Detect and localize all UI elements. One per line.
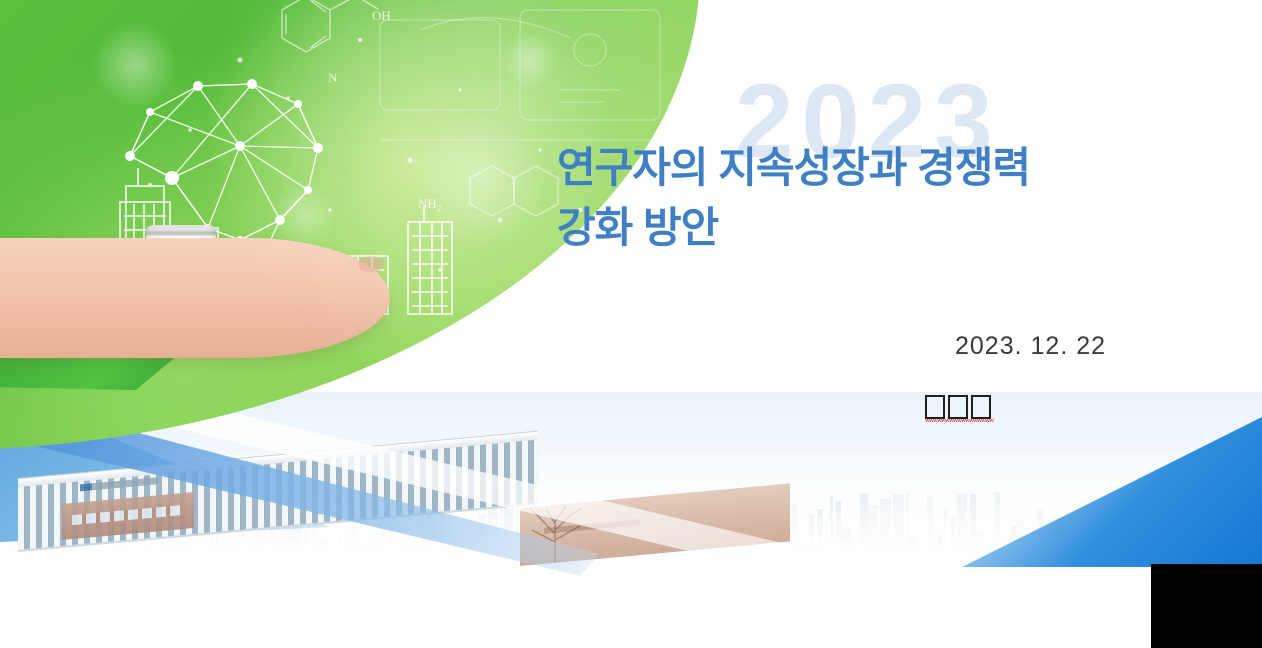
glow-1 bbox=[90, 20, 180, 110]
presentation-date: 2023. 12. 22 bbox=[955, 332, 1106, 361]
city-skyline-outline bbox=[28, 146, 498, 326]
missing-glyph-box bbox=[948, 395, 968, 419]
presenter-name-wrap bbox=[925, 392, 994, 422]
lightbulb-screw-base bbox=[146, 225, 216, 275]
page-title: 연구자의 지속성장과 경쟁력 강화 방안 bbox=[557, 138, 1157, 257]
hand-holding-bulb bbox=[0, 238, 390, 358]
network-lightbulb-icon bbox=[112, 78, 372, 278]
presenter-name bbox=[925, 392, 994, 422]
green-leaf bbox=[0, 320, 200, 390]
glow-3 bbox=[270, 180, 340, 250]
glow-2 bbox=[410, 110, 550, 250]
black-letterbox-block bbox=[1151, 564, 1262, 648]
chemical-structure-2 bbox=[452, 148, 572, 248]
chemical-structure-1 bbox=[262, 0, 392, 86]
chem-label-oh: OH bbox=[372, 8, 391, 24]
presentation-title-slide: N OH NH2 bbox=[0, 0, 1262, 648]
glow-4 bbox=[500, 30, 560, 90]
missing-glyph-box bbox=[925, 395, 945, 419]
bare-tree-icon bbox=[510, 500, 600, 562]
chem-label-nh2: NH2 bbox=[418, 196, 441, 214]
chem-label-n: N bbox=[328, 70, 337, 86]
missing-glyph-box bbox=[971, 395, 991, 419]
